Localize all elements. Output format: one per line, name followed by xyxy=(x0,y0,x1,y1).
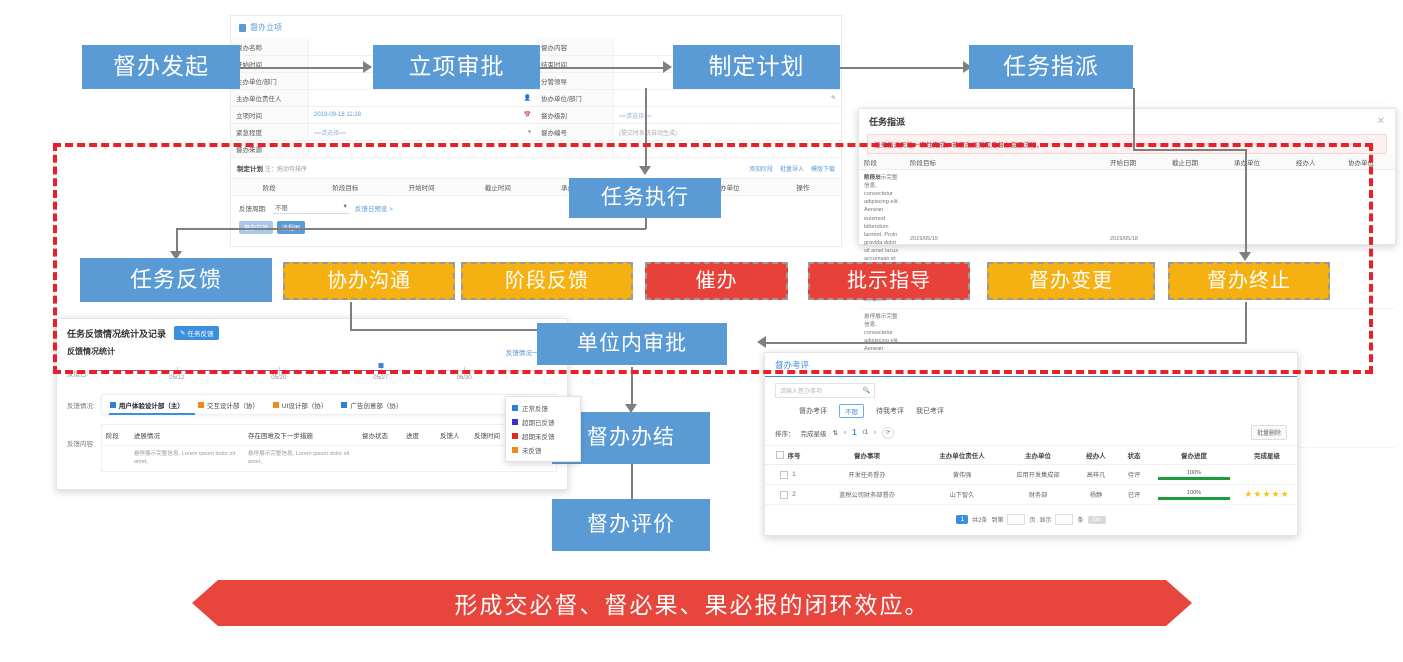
pager-to-label: 到第 xyxy=(991,515,1003,524)
timeline-label: 反馈日: xyxy=(67,361,88,378)
connector-line xyxy=(540,67,665,69)
field-label: 主办单位责任人 xyxy=(231,90,309,107)
plan-note: 注：拖动可排序 xyxy=(265,167,307,173)
supervision-review-panel: 督办考评 请输入督办事项 🔍 督办考评 不限 待我考评 我已考评 排序： 完成星… xyxy=(764,352,1298,536)
breadcrumb-label: 督办立项 xyxy=(250,22,282,33)
flow-box-co-communication[interactable]: 协办沟通 xyxy=(283,262,455,300)
flow-box-label: 阶段反馈 xyxy=(505,270,589,292)
legend-swatch-icon xyxy=(341,402,347,408)
legend-swatch-icon xyxy=(110,402,116,408)
field-input xyxy=(614,141,841,158)
field-label: 督办编号 xyxy=(536,124,614,141)
status-legend-item: 正常反馈 xyxy=(512,401,574,415)
axis-tick-label: 05/27 xyxy=(373,375,388,381)
connector-line xyxy=(1245,302,1247,343)
connector-line xyxy=(645,88,647,136)
panel-title: 督办考评 xyxy=(765,353,1297,377)
arrow-icon xyxy=(757,336,766,348)
owner-cell: 山下智久 xyxy=(923,485,1001,504)
task-feedback-button-label: 任务反馈 xyxy=(187,328,213,338)
timeline-axis[interactable]: 05/12 05/20 05/27 06/30 xyxy=(93,361,557,387)
row-index: 1 xyxy=(792,471,795,478)
feedback-cycle-select[interactable]: 不限 ▾ xyxy=(273,201,349,214)
legend-item-label: 广告创意部（协） xyxy=(350,400,402,410)
legend-card: 用户体验设计部（主） 交互设计部（协） UI设计部（协） 广告创意部（协） ? xyxy=(101,394,557,415)
flow-box-task-assign[interactable]: 任务指派 xyxy=(969,45,1133,89)
flow-box-supervision-initiate[interactable]: 督办发起 xyxy=(82,45,240,89)
stage-cell xyxy=(102,446,130,471)
plan-col: 截止时间 xyxy=(460,179,536,195)
feedback-cycle-value: 不限 xyxy=(275,202,288,212)
flow-box-supervision-evaluate[interactable]: 督办评价 xyxy=(552,499,710,551)
connector-line xyxy=(631,367,633,409)
rv-col: 状态 xyxy=(1117,446,1151,464)
tab-pending-review[interactable]: 待我考评 xyxy=(876,406,904,416)
rv-col: 主办单位责任人 xyxy=(923,446,1001,464)
select-all-checkbox[interactable] xyxy=(776,451,784,459)
plan-title: 制定计划 xyxy=(237,166,263,173)
progress-cell: 悬停展示完整信息, Lorem ipsum dolor sit amet, xyxy=(130,446,244,471)
handler-cell: 高梓凡 xyxy=(1075,465,1117,484)
pager-page-input[interactable] xyxy=(1007,514,1025,525)
field-label: 开始时间 xyxy=(231,56,309,73)
flow-box-label: 督办变更 xyxy=(1029,270,1113,292)
flow-box-label: 单位内审批 xyxy=(577,332,687,355)
progress-percent: 100% xyxy=(1187,490,1201,496)
user-icon: 👤 xyxy=(524,95,531,102)
progress-bar xyxy=(1158,497,1230,500)
flow-box-internal-approval[interactable]: 单位内审批 xyxy=(537,323,727,365)
field-input[interactable]: 2019-09-18 11:28 📅 xyxy=(309,107,536,124)
legend-item-label: UI设计部（协） xyxy=(282,400,328,410)
flow-box-label: 督办终止 xyxy=(1207,270,1291,292)
review-pager: 1 共2条 到第 页 显示 条 Go xyxy=(765,505,1297,534)
flow-box-label: 督办发起 xyxy=(113,54,209,79)
pager-total: 共2条 xyxy=(972,515,987,524)
document-icon xyxy=(239,24,246,32)
feedback-status-popup: 正常反馈 超期已反馈 超期未反馈 未反馈 xyxy=(505,396,581,462)
rv-col: 经办人 xyxy=(1075,446,1117,464)
legend-item[interactable]: 交互设计部（协） xyxy=(198,400,259,410)
fb-col: 存在困难及下一步措施 xyxy=(244,425,358,445)
breadcrumb: 督办立项 xyxy=(231,16,841,39)
batch-delete-button[interactable]: 批量删除 xyxy=(1251,425,1287,440)
bottom-banner: 形成交必督、督必果、果必报的闭环效应。 xyxy=(192,580,1192,626)
tab-supervision-review[interactable]: 督办考评 xyxy=(799,406,827,416)
sort-arrow-icon[interactable]: ⇅ xyxy=(833,429,838,437)
feedback-table-header: 阶段 进展情况 存在困难及下一步措施 督办状态 进度 反馈人 反馈时间 文档状态 xyxy=(102,425,556,446)
page-total: /1 xyxy=(863,429,868,436)
fb-col: 督办状态 xyxy=(358,425,402,445)
refresh-icon[interactable]: ⟳ xyxy=(882,427,894,439)
field-placeholder: ==请选择== xyxy=(314,128,346,137)
progress-bar xyxy=(1158,477,1230,480)
table-row[interactable]: 2 蓝税公司财务部督办 山下智久 财务部 杨静 已评 100% ★★★★★ xyxy=(765,485,1297,505)
field-select[interactable]: ==请选择== xyxy=(614,107,841,124)
sort-label: 排序： xyxy=(775,428,795,438)
pager-page-unit: 页 xyxy=(1029,515,1035,524)
status-legend-label: 正常反馈 xyxy=(522,403,548,413)
field-label: 结束时间 xyxy=(536,56,614,73)
timeline-marker[interactable] xyxy=(378,363,383,368)
feedback-content-row: 反馈内容: 阶段 进展情况 存在困难及下一步措施 督办状态 进度 反馈人 反馈时… xyxy=(57,418,567,472)
filter-chip-all[interactable]: 不限 xyxy=(839,404,864,418)
task-assign-dialog: 任务指派 ✕ 任务指派只能一次性完成，若要改派则需走督办变更流程。 阶段 阶段目… xyxy=(858,108,1396,245)
field-input[interactable]: 👤 xyxy=(309,90,536,107)
chevron-down-icon: ▾ xyxy=(344,202,347,212)
plan-col: 开始时间 xyxy=(384,179,460,195)
connector-line xyxy=(1245,149,1247,257)
co-unit-cell[interactable] xyxy=(1291,309,1343,447)
task-feedback-panel: 任务反馈情况统计及记录 ✎ 任务反馈 反馈情况统计 反馈情况一览表 > 反馈日:… xyxy=(56,318,568,490)
page-next-icon[interactable]: › xyxy=(874,429,876,436)
feedback-preview-link[interactable]: 反馈日预览 > xyxy=(355,203,393,213)
field-input: (提交时系统自动生成) xyxy=(614,124,841,141)
percent-cell xyxy=(402,446,436,471)
flow-box-make-plan[interactable]: 制定计划 xyxy=(673,45,840,89)
connector-line xyxy=(762,342,1247,344)
section-title: 反馈情况统计 xyxy=(67,346,115,357)
feedback-legend-row: 反馈情况: 用户体验设计部（主） 交互设计部（协） UI设计部（协） 广告创意部… xyxy=(57,387,567,418)
chevron-down-icon: ▾ xyxy=(528,129,531,136)
template-download-button[interactable]: 模版下载 xyxy=(811,164,835,173)
banner-text: 形成交必督、督必果、果必报的闭环效应。 xyxy=(218,580,1166,626)
rv-col: 完成星级 xyxy=(1237,446,1297,464)
arrow-icon xyxy=(639,166,651,175)
status-legend-label: 未反馈 xyxy=(522,445,542,455)
owner-cell: 黄伟强 xyxy=(923,465,1001,484)
task-feedback-button[interactable]: ✎ 任务反馈 xyxy=(174,326,219,340)
flow-box-urge[interactable]: 催办 xyxy=(645,262,788,300)
review-table-header: 序号 督办事项 主办单位责任人 主办单位 经办人 状态 督办进度 完成星级 xyxy=(765,445,1297,465)
feedback-stat-header: 反馈情况统计 反馈情况一览表 > xyxy=(57,344,567,361)
rv-col-no: 序号 xyxy=(765,446,811,464)
connector-line xyxy=(176,228,646,230)
unit-cell: 财务部 xyxy=(1001,485,1075,504)
axis-tick xyxy=(177,367,178,374)
connector-line xyxy=(840,67,965,69)
review-tabs: 督办考评 不限 待我考评 我已考评 xyxy=(765,398,1297,422)
edit-icon: ✎ xyxy=(180,329,185,337)
table-row[interactable]: 1 开发任务督办 黄伟强 应用开发集成部 高梓凡 待评 100% xyxy=(765,465,1297,485)
status-cell xyxy=(358,446,402,471)
page-current: 1 xyxy=(852,428,856,437)
status-badge: 待评 xyxy=(1117,465,1151,484)
pager-page-button[interactable]: 1 xyxy=(956,515,968,524)
field-label: 督办来源 xyxy=(231,141,309,158)
fb-col: 进展情况 xyxy=(130,425,244,445)
field-note: (提交时系统自动生成) xyxy=(619,128,677,137)
axis-tick-label: 05/12 xyxy=(169,375,184,381)
connector-line xyxy=(350,329,550,331)
feedback-cycle-label: 反馈周期: xyxy=(239,203,267,213)
field-label: 分管领导 xyxy=(536,73,614,90)
flow-box-supervision-terminate[interactable]: 督办终止 xyxy=(1168,262,1330,300)
panel-title: 任务反馈情况统计及记录 xyxy=(67,327,166,340)
status-swatch-icon xyxy=(512,447,518,453)
arrow-icon xyxy=(663,61,672,73)
matter-cell: 开发任务督办 xyxy=(811,465,923,484)
feedback-table: 阶段 进展情况 存在困难及下一步措施 督办状态 进度 反馈人 反馈时间 文档状态… xyxy=(101,424,557,472)
axis-tick xyxy=(279,367,280,374)
status-legend-item: 超期未反馈 xyxy=(512,429,574,443)
field-value: 2019-09-18 11:28 xyxy=(314,112,361,118)
fb-col: 反馈人 xyxy=(436,425,470,445)
plan-col: 阶段 xyxy=(231,179,307,195)
review-toolbar: 排序： 完成星级 ⇅ ‹ 1 /1 › ⟳ 批量删除 xyxy=(765,422,1297,445)
progress-cell: 100% xyxy=(1151,465,1237,484)
rv-col: 督办事项 xyxy=(811,446,923,464)
field-input[interactable]: ✎ xyxy=(614,90,841,107)
row-index: 2 xyxy=(792,491,795,498)
star-rating[interactable]: ★★★★★ xyxy=(1237,485,1297,504)
edit-icon: ✎ xyxy=(831,95,836,102)
flow-box-label: 督办办结 xyxy=(587,426,675,449)
status-legend-label: 超期未反馈 xyxy=(522,431,555,441)
status-swatch-icon xyxy=(512,405,518,411)
progress-cell: 100% xyxy=(1151,485,1237,504)
banner-right-arrow-icon xyxy=(1166,580,1192,626)
field-label: 督办级别 xyxy=(536,107,614,124)
plan-table-header: 阶段 阶段目标 开始时间 截止时间 承办单位 承办人 协办单位 操作 xyxy=(231,178,841,196)
add-stage-button[interactable]: 添加阶段 xyxy=(749,164,773,173)
field-select[interactable]: ==请选择== ▾ xyxy=(309,124,536,141)
connector-line xyxy=(240,67,365,69)
flow-box-label: 督办评价 xyxy=(587,513,675,536)
field-label xyxy=(536,141,614,158)
feedback-cycle-row: 反馈周期: 不限 ▾ 反馈日预览 > xyxy=(231,196,841,219)
pager-go-button[interactable]: Go xyxy=(1088,516,1106,524)
status-badge: 已评 xyxy=(1117,485,1151,504)
rv-col: 督办进度 xyxy=(1151,446,1237,464)
flow-box-supervision-change[interactable]: 督办变更 xyxy=(987,262,1155,300)
flow-box-label: 制定计划 xyxy=(709,54,805,79)
fb-col: 进度 xyxy=(402,425,436,445)
status-swatch-icon xyxy=(512,419,518,425)
pager-show-label: 显示 xyxy=(1039,515,1051,524)
legend-item[interactable]: 用户体验设计部（主） xyxy=(110,400,184,410)
search-input[interactable]: 请输入督办事项 🔍 xyxy=(775,383,875,398)
arrow-icon xyxy=(1239,252,1251,261)
flow-box-task-execute[interactable]: 任务执行 xyxy=(569,178,721,218)
axis-tick-label: 05/20 xyxy=(271,375,286,381)
rv-col-label: 序号 xyxy=(788,450,801,460)
connector-line xyxy=(1133,88,1135,150)
legend-item[interactable]: UI设计部（协） xyxy=(273,400,328,410)
search-placeholder: 请输入督办事项 xyxy=(780,386,822,395)
banner-left-arrow-icon xyxy=(192,580,218,626)
flow-box-stage-feedback[interactable]: 阶段反馈 xyxy=(461,262,633,300)
flow-box-label: 协办沟通 xyxy=(327,270,411,292)
rv-col: 主办单位 xyxy=(1001,446,1075,464)
legend-item[interactable]: 广告创意部（协） xyxy=(341,400,402,410)
legend-item-label: 用户体验设计部（主） xyxy=(119,400,184,410)
flow-box-label: 批示指导 xyxy=(847,270,931,292)
handler-cell: 杨静 xyxy=(1075,485,1117,504)
stage-cell: 阶段二 xyxy=(859,109,1395,244)
star-rating[interactable] xyxy=(1237,465,1297,484)
flow-box-label: 任务执行 xyxy=(601,186,689,209)
field-label: 协办单位/部门 xyxy=(536,90,614,107)
field-input[interactable] xyxy=(309,141,536,158)
pager-size-input[interactable] xyxy=(1055,514,1073,525)
status-swatch-icon xyxy=(512,433,518,439)
feedback-panel-header: 任务反馈情况统计及记录 ✎ 任务反馈 xyxy=(57,319,567,344)
unit-cell: 应用开发集成部 xyxy=(1001,465,1075,484)
axis-progress-line xyxy=(93,370,399,371)
field-label: 督办内容 xyxy=(536,39,614,56)
status-legend-item: 超期已反馈 xyxy=(512,415,574,429)
plan-col: 操作 xyxy=(765,179,841,195)
legend-item-label: 交互设计部（协） xyxy=(207,400,259,410)
tab-reviewed[interactable]: 我已考评 xyxy=(916,406,944,416)
diagram-stage: 督办立项 督办名称 督办内容 开始时间 📅 结束时间 📅 主办单位/部门 ✎ 分… xyxy=(0,0,1403,662)
status-legend-item: 未反馈 xyxy=(512,443,574,457)
field-label: 紧急程度 xyxy=(231,124,309,141)
page-prev-icon[interactable]: ‹ xyxy=(844,429,846,436)
flow-box-project-approval[interactable]: 立项审批 xyxy=(373,45,540,89)
legend-swatch-icon xyxy=(198,402,204,408)
legend-label: 反馈情况: xyxy=(67,400,95,410)
flow-box-label: 任务指派 xyxy=(1003,54,1099,79)
flow-box-task-feedback[interactable]: 任务反馈 xyxy=(80,258,272,302)
arrow-icon xyxy=(363,61,372,73)
feedback-timeline: 反馈日: 05/12 05/20 05/27 06/30 xyxy=(57,361,567,387)
status-legend-label: 超期已反馈 xyxy=(522,417,555,427)
plan-toolbar: 制定计划 注：拖动可排序 添加阶段 批量导入 模版下载 xyxy=(231,158,841,178)
connector-line xyxy=(350,302,352,330)
sort-value[interactable]: 完成星级 xyxy=(801,428,827,438)
pager-size-unit: 条 xyxy=(1077,515,1083,524)
progress-percent: 100% xyxy=(1187,470,1201,476)
connector-line xyxy=(1133,149,1246,151)
row-checkbox[interactable] xyxy=(780,491,788,499)
axis-tick-label: 06/30 xyxy=(457,375,472,381)
batch-import-button[interactable]: 批量导入 xyxy=(780,164,804,173)
plan-col: 阶段目标 xyxy=(307,179,383,195)
legend-swatch-icon xyxy=(273,402,279,408)
reporter-cell xyxy=(436,446,470,471)
field-label: 立项时间 xyxy=(231,107,309,124)
fb-col: 阶段 xyxy=(102,425,130,445)
flow-box-label: 催办 xyxy=(696,270,738,292)
axis-tick xyxy=(464,367,465,374)
field-label: 主办单位/部门 xyxy=(231,73,309,90)
feedback-content-label: 反馈内容: xyxy=(67,424,95,472)
table-row[interactable]: 悬停展示完整信息, Lorem ipsum dolor sit amet, 悬停… xyxy=(102,446,556,471)
axis-tick xyxy=(381,367,382,374)
search-icon[interactable]: 🔍 xyxy=(863,387,870,394)
field-label: 督办名称 xyxy=(231,39,309,56)
flow-box-label: 立项审批 xyxy=(409,54,505,79)
row-no-cell: 1 xyxy=(765,465,811,484)
flow-box-instruction-guidance[interactable]: 批示指导 xyxy=(808,262,970,300)
flow-box-label: 任务反馈 xyxy=(130,268,222,292)
matter-cell: 蓝税公司财务部督办 xyxy=(811,485,923,504)
row-no-cell: 2 xyxy=(765,485,811,504)
difficulty-cell: 悬停展示完整信息, Lorem ipsum dolor sit amet, xyxy=(244,446,358,471)
legend-active-underline xyxy=(109,413,195,415)
row-checkbox[interactable] xyxy=(780,471,788,479)
calendar-icon: 📅 xyxy=(524,112,531,119)
